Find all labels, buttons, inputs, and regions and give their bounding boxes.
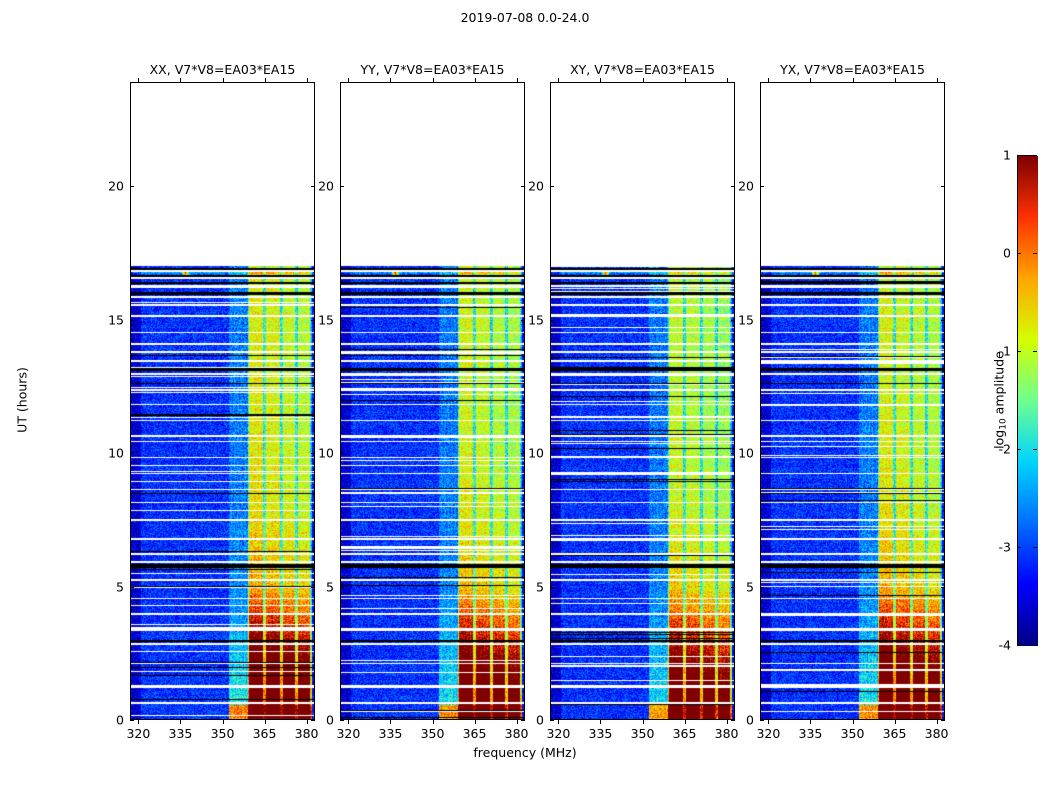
x-tick-label-335: 335 [589,726,613,741]
colorbar-tick--4 [1017,645,1021,646]
x-tick-label-350: 350 [631,726,655,741]
x-tick-380 [307,720,308,724]
panel-axes-frame [550,82,735,720]
x-tick-335 [810,720,811,724]
y-tick-label-15: 15 [528,312,544,327]
x-tick-350 [433,720,434,724]
y-tick-label-5: 5 [536,579,544,594]
x-tick-top-365 [895,78,896,82]
x-tick-320 [558,720,559,724]
x-axis-label: frequency (MHz) [0,745,1050,760]
y-tick-label-10: 10 [318,446,334,461]
y-tick-0 [130,720,134,721]
colorbar-tick-label--3: -3 [999,540,1011,555]
x-tick-label-335: 335 [379,726,403,741]
x-tick-label-335: 335 [169,726,193,741]
y-tick-label-15: 15 [738,312,754,327]
x-tick-label-320: 320 [126,726,150,741]
y-tick-15 [550,320,554,321]
y-tick-label-20: 20 [108,179,124,194]
x-tick-320 [348,720,349,724]
x-tick-top-365 [685,78,686,82]
y-axis-label: UT (hours) [15,367,30,433]
panel-title-xy: XY, V7*V8=EA03*EA15 [570,62,715,77]
x-tick-335 [180,720,181,724]
x-tick-top-380 [307,78,308,82]
colorbar-tick-right--4 [1033,645,1037,646]
x-tick-380 [517,720,518,724]
y-tick-right-20 [521,186,525,187]
x-tick-top-350 [643,78,644,82]
y-tick-0 [760,720,764,721]
x-tick-label-380: 380 [295,726,319,741]
x-tick-top-380 [517,78,518,82]
panel-title-yy: YY, V7*V8=EA03*EA15 [361,62,505,77]
colorbar-label-prefix: log [991,430,1006,449]
colorbar-tick-right--3 [1033,547,1037,548]
y-tick-15 [130,320,134,321]
y-tick-label-10: 10 [108,446,124,461]
colorbar-tick-right-1 [1033,155,1037,156]
y-tick-label-15: 15 [318,312,334,327]
x-tick-350 [223,720,224,724]
x-tick-label-365: 365 [673,726,697,741]
panel-title-xx: XX, V7*V8=EA03*EA15 [150,62,296,77]
colorbar-tick--1 [1017,351,1021,352]
y-tick-5 [760,587,764,588]
x-tick-label-320: 320 [756,726,780,741]
colorbar-label: log10 amplitude [991,351,1008,449]
y-tick-20 [760,186,764,187]
y-tick-5 [340,587,344,588]
y-tick-10 [760,453,764,454]
x-tick-top-320 [768,78,769,82]
y-tick-right-10 [731,453,735,454]
y-tick-15 [760,320,764,321]
x-tick-label-380: 380 [505,726,529,741]
x-tick-label-350: 350 [421,726,445,741]
y-tick-label-10: 10 [738,446,754,461]
x-tick-top-380 [937,78,938,82]
y-tick-label-0: 0 [116,713,124,728]
colorbar-tick-label-0: 0 [1003,246,1011,261]
colorbar-tick-1 [1017,155,1021,156]
x-tick-top-335 [180,78,181,82]
y-tick-label-5: 5 [746,579,754,594]
x-tick-top-320 [138,78,139,82]
colorbar-tick-right--2 [1033,449,1037,450]
y-tick-0 [340,720,344,721]
spectrogram-image-xx [131,83,314,719]
colorbar-label-subscript: 10 [999,418,1009,429]
spectrogram-image-xy [551,83,734,719]
x-tick-top-350 [853,78,854,82]
spectrogram-panel-yx[interactable]: YX, V7*V8=EA03*EA15320335350365380051015… [760,82,945,720]
x-tick-top-365 [475,78,476,82]
y-tick-label-5: 5 [326,579,334,594]
x-tick-label-380: 380 [925,726,949,741]
x-tick-top-335 [600,78,601,82]
colorbar-tick-label--4: -4 [999,638,1011,653]
x-tick-top-335 [810,78,811,82]
x-tick-365 [685,720,686,724]
x-tick-label-365: 365 [883,726,907,741]
y-tick-right-0 [521,720,525,721]
panel-axes-frame [130,82,315,720]
y-tick-right-10 [941,453,945,454]
x-tick-320 [138,720,139,724]
y-tick-label-20: 20 [738,179,754,194]
x-tick-label-350: 350 [841,726,865,741]
colorbar-tick-0 [1017,253,1021,254]
x-tick-top-320 [558,78,559,82]
y-tick-right-20 [731,186,735,187]
colorbar-tick-right-0 [1033,253,1037,254]
y-tick-right-0 [731,720,735,721]
colorbar-label-suffix: amplitude [991,351,1006,418]
x-tick-label-320: 320 [546,726,570,741]
x-tick-365 [265,720,266,724]
colorbar-gradient [1018,156,1038,646]
x-tick-top-350 [433,78,434,82]
spectrogram-image-yx [761,83,944,719]
y-tick-label-0: 0 [326,713,334,728]
y-tick-20 [130,186,134,187]
y-tick-right-10 [311,453,315,454]
x-tick-320 [768,720,769,724]
y-tick-label-15: 15 [108,312,124,327]
y-tick-label-0: 0 [536,713,544,728]
figure-suptitle: 2019-07-08 0.0-24.0 [0,10,1050,25]
y-tick-right-15 [731,320,735,321]
colorbar-tick-label-1: 1 [1003,148,1011,163]
x-tick-top-350 [223,78,224,82]
x-tick-top-380 [727,78,728,82]
y-tick-right-5 [731,587,735,588]
spectrogram-panel-xx[interactable]: XX, V7*V8=EA03*EA15320335350365380051015… [130,82,315,720]
y-tick-right-15 [521,320,525,321]
x-tick-label-380: 380 [715,726,739,741]
figure-canvas: 2019-07-08 0.0-24.0 XX, V7*V8=EA03*EA153… [0,0,1050,800]
x-tick-335 [600,720,601,724]
y-tick-right-5 [521,587,525,588]
y-tick-right-20 [311,186,315,187]
x-tick-top-335 [390,78,391,82]
y-tick-10 [130,453,134,454]
panel-title-yx: YX, V7*V8=EA03*EA15 [780,62,925,77]
colorbar-tick-right--1 [1033,351,1037,352]
colorbar-tick--3 [1017,547,1021,548]
x-tick-335 [390,720,391,724]
x-tick-label-335: 335 [799,726,823,741]
panel-axes-frame [340,82,525,720]
y-tick-label-20: 20 [528,179,544,194]
x-tick-label-365: 365 [463,726,487,741]
x-tick-label-365: 365 [253,726,277,741]
y-tick-0 [550,720,554,721]
y-tick-right-15 [311,320,315,321]
y-tick-10 [550,453,554,454]
y-tick-right-0 [941,720,945,721]
colorbar[interactable] [1017,155,1037,645]
y-tick-5 [550,587,554,588]
spectrogram-image-yy [341,83,524,719]
y-tick-right-0 [311,720,315,721]
y-tick-20 [550,186,554,187]
y-tick-right-10 [521,453,525,454]
y-tick-20 [340,186,344,187]
spectrogram-panel-xy[interactable]: XY, V7*V8=EA03*EA15320335350365380051015… [550,82,735,720]
y-tick-right-15 [941,320,945,321]
x-tick-top-365 [265,78,266,82]
y-tick-15 [340,320,344,321]
x-tick-350 [643,720,644,724]
y-tick-10 [340,453,344,454]
x-tick-label-320: 320 [336,726,360,741]
x-tick-350 [853,720,854,724]
y-tick-label-5: 5 [116,579,124,594]
x-tick-label-350: 350 [211,726,235,741]
colorbar-tick--2 [1017,449,1021,450]
x-tick-380 [937,720,938,724]
x-tick-365 [475,720,476,724]
y-tick-right-20 [941,186,945,187]
y-tick-label-20: 20 [318,179,334,194]
y-tick-label-0: 0 [746,713,754,728]
x-tick-top-320 [348,78,349,82]
y-tick-right-5 [941,587,945,588]
panel-axes-frame [760,82,945,720]
spectrogram-panel-yy[interactable]: YY, V7*V8=EA03*EA15320335350365380051015… [340,82,525,720]
y-tick-right-5 [311,587,315,588]
y-tick-label-10: 10 [528,446,544,461]
x-tick-365 [895,720,896,724]
x-tick-380 [727,720,728,724]
y-tick-5 [130,587,134,588]
